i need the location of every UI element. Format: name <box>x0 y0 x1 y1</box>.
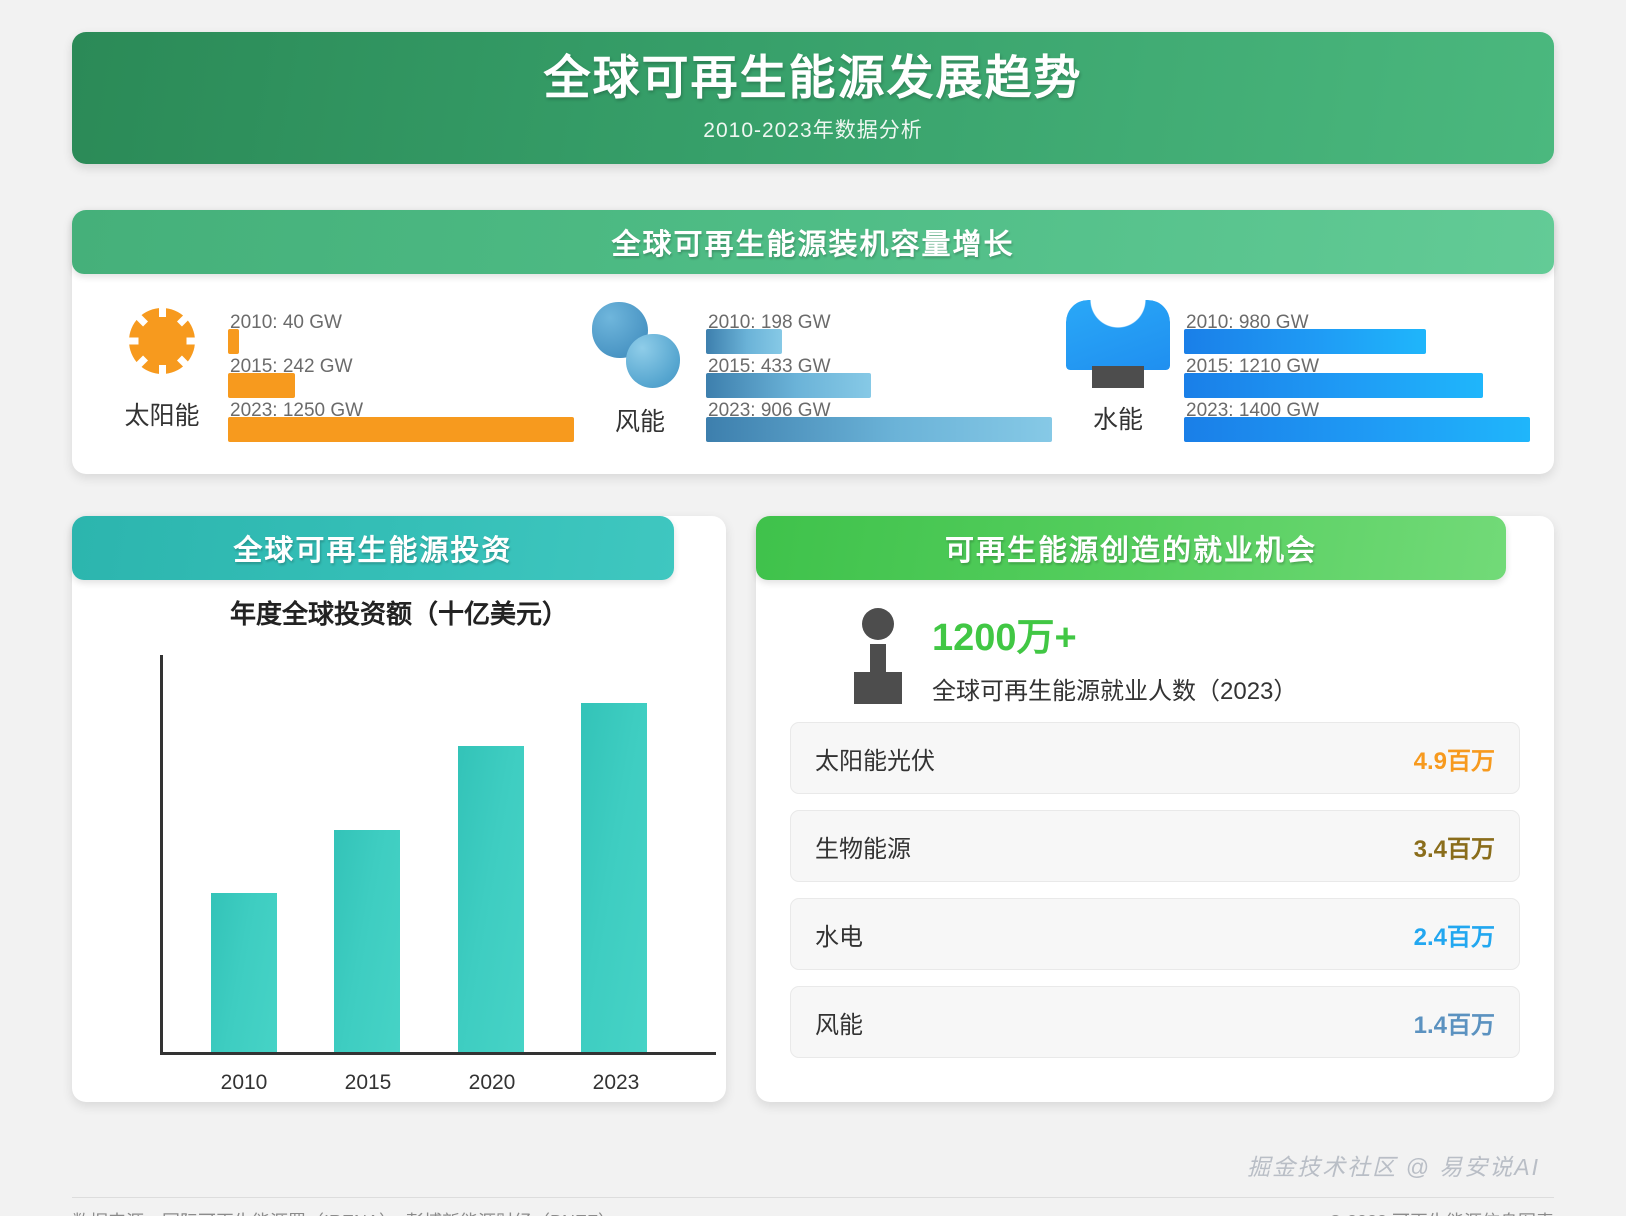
investment-bar-chart <box>132 655 686 1055</box>
bar-row: 2023: 906 GW <box>706 400 1052 444</box>
x-tick-label: 2023 <box>583 1071 649 1095</box>
bar-label: 2015: 433 GW <box>708 356 831 378</box>
job-sector-name: 生物能源 <box>815 829 911 864</box>
data-source-text: 数据来源：国际可再生能源署（IRENA）、彭博新能源财经（BNEF） <box>72 1208 616 1216</box>
solar-icon-wrap: 太阳能 <box>96 300 228 432</box>
capacity-bars-wind: 2010: 198 GW 2015: 433 GW 2023: 906 GW <box>706 300 1052 444</box>
bar-row: 2015: 433 GW <box>706 356 1052 400</box>
table-row: 生物能源 3.4百万 <box>790 810 1520 882</box>
capacity-label-hydro: 水能 <box>1093 400 1143 436</box>
x-axis-labels: 2010 2015 2020 2023 <box>182 1071 678 1095</box>
job-sector-name: 风能 <box>815 1005 863 1040</box>
hydro-icon <box>1066 300 1170 386</box>
capacity-section-title: 全球可再生能源装机容量增长 <box>72 210 1554 274</box>
capacity-card: 全球可再生能源装机容量增长 太阳能 2010: 40 GW <box>72 210 1554 474</box>
table-row: 风能 1.4百万 <box>790 986 1520 1058</box>
bar-row: 2023: 1400 GW <box>1184 400 1530 444</box>
chart-bar-2010 <box>211 893 277 1052</box>
chart-bar-2023 <box>581 703 647 1052</box>
bar-label: 2015: 242 GW <box>230 356 353 378</box>
bar-label: 2023: 1400 GW <box>1186 400 1319 422</box>
capacity-group-solar: 太阳能 2010: 40 GW 2015: 242 GW 2023: 1250 … <box>96 300 574 474</box>
page-header: 全球可再生能源发展趋势 2010-2023年数据分析 <box>72 32 1554 164</box>
job-sector-value: 3.4百万 <box>1414 829 1495 864</box>
hydro-icon-wrap: 水能 <box>1052 300 1184 436</box>
job-sector-value: 4.9百万 <box>1414 741 1495 776</box>
chart-bars <box>182 655 676 1052</box>
bar-label: 2010: 198 GW <box>708 312 831 334</box>
capacity-group-hydro: 水能 2010: 980 GW 2015: 1210 GW 2023: 1400… <box>1052 300 1530 474</box>
wind-icon-wrap: 风能 <box>574 300 706 438</box>
capacity-group-wind: 风能 2010: 198 GW 2015: 433 GW 2023: 906 G… <box>574 300 1052 474</box>
job-sector-value: 2.4百万 <box>1414 917 1495 952</box>
job-sector-value: 1.4百万 <box>1414 1005 1495 1040</box>
jobs-highlight: 1200万+ 全球可再生能源就业人数（2023） <box>790 606 1520 706</box>
jobs-body: 1200万+ 全球可再生能源就业人数（2023） 太阳能光伏 4.9百万 生物能… <box>756 580 1554 1058</box>
capacity-bars-solar: 2010: 40 GW 2015: 242 GW 2023: 1250 GW <box>228 300 574 444</box>
infographic-page: 全球可再生能源发展趋势 2010-2023年数据分析 全球可再生能源装机容量增长… <box>0 32 1626 1216</box>
bar-row: 2010: 198 GW <box>706 312 1052 356</box>
watermark: 掘金技术社区 @ 易安说AI <box>1247 1148 1540 1182</box>
bar-label: 2010: 40 GW <box>230 312 342 334</box>
table-row: 水电 2.4百万 <box>790 898 1520 970</box>
jobs-big-caption: 全球可再生能源就业人数（2023） <box>932 671 1297 706</box>
investment-section-title: 全球可再生能源投资 <box>72 516 674 580</box>
page-footer: 数据来源：国际可再生能源署（IRENA）、彭博新能源财经（BNEF） © 202… <box>72 1197 1554 1216</box>
x-tick-label: 2010 <box>211 1071 277 1095</box>
jobs-card: 可再生能源创造的就业机会 1200万+ 全球可再生能源就业人数（2023） 太阳… <box>756 516 1554 1102</box>
job-sector-name: 太阳能光伏 <box>815 741 935 776</box>
capacity-label-solar: 太阳能 <box>124 396 199 432</box>
bar-label: 2015: 1210 GW <box>1186 356 1319 378</box>
bar-label: 2010: 980 GW <box>1186 312 1309 334</box>
bar-row: 2015: 242 GW <box>228 356 574 400</box>
bar-label: 2023: 906 GW <box>708 400 831 422</box>
jobs-section-title: 可再生能源创造的就业机会 <box>756 516 1506 580</box>
x-tick-label: 2020 <box>459 1071 525 1095</box>
sun-icon <box>121 300 203 382</box>
investment-card: 全球可再生能源投资 年度全球投资额（十亿美元） 2010 2015 2020 2… <box>72 516 726 1102</box>
bar-row: 2023: 1250 GW <box>228 400 574 444</box>
person-icon <box>850 608 906 704</box>
page-subtitle: 2010-2023年数据分析 <box>703 114 922 144</box>
chart-bar-2015 <box>334 830 400 1052</box>
copyright-text: © 2023 可再生能源信息图表 <box>1329 1208 1554 1216</box>
bar-row: 2010: 980 GW <box>1184 312 1530 356</box>
capacity-label-wind: 风能 <box>615 402 665 438</box>
bar-row: 2015: 1210 GW <box>1184 356 1530 400</box>
page-title: 全球可再生能源发展趋势 <box>544 52 1083 104</box>
y-axis <box>160 655 163 1055</box>
wind-icon <box>592 300 688 388</box>
jobs-big-number: 1200万+ <box>932 606 1297 661</box>
bar-label: 2023: 1250 GW <box>230 400 363 422</box>
investment-chart-title: 年度全球投资额（十亿美元） <box>72 594 726 631</box>
capacity-body: 太阳能 2010: 40 GW 2015: 242 GW 2023: 1250 … <box>72 274 1554 474</box>
table-row: 太阳能光伏 4.9百万 <box>790 722 1520 794</box>
x-tick-label: 2015 <box>335 1071 401 1095</box>
job-sector-name: 水电 <box>815 917 863 952</box>
capacity-bars-hydro: 2010: 980 GW 2015: 1210 GW 2023: 1400 GW <box>1184 300 1530 444</box>
bottom-row: 全球可再生能源投资 年度全球投资额（十亿美元） 2010 2015 2020 2… <box>72 516 1554 1102</box>
bar-row: 2010: 40 GW <box>228 312 574 356</box>
chart-bar-2020 <box>458 746 524 1052</box>
x-axis <box>160 1052 716 1055</box>
